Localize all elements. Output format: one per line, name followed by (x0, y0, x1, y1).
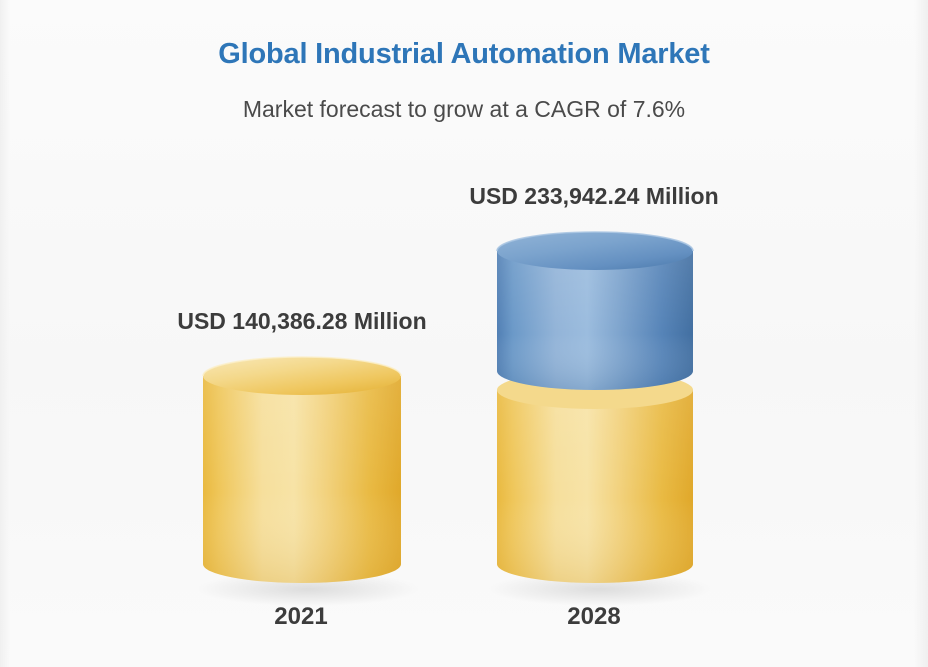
bar-2021[interactable] (203, 357, 401, 588)
value-label-2021: USD 140,386.28 Million (102, 308, 502, 335)
category-label-2028: 2028 (496, 603, 692, 631)
category-label-2021: 2021 (202, 603, 400, 631)
bar-2021-body-shade (203, 376, 401, 588)
bar-2028-blue-shade (497, 251, 693, 390)
bar-2028-yellow-shade (497, 390, 693, 588)
bar-2028[interactable] (497, 232, 693, 588)
value-label-2028: USD 233,942.24 Million (394, 183, 794, 210)
